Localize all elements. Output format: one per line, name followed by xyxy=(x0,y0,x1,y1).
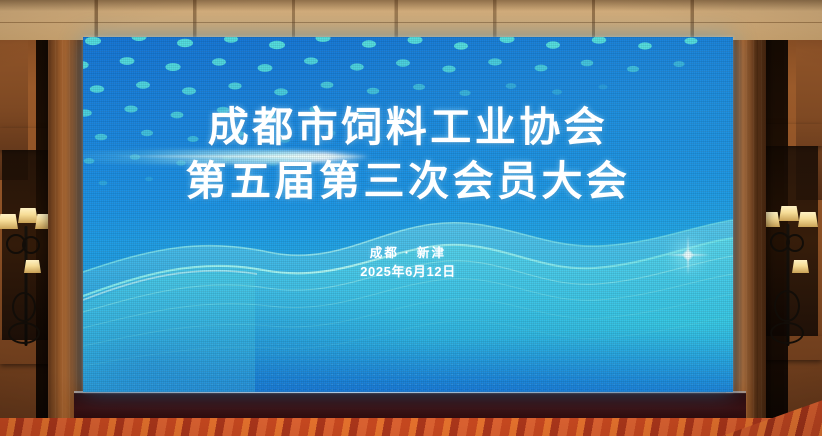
sconce-scrollwork xyxy=(22,236,40,254)
right-candelabra-sconce xyxy=(762,198,814,362)
sconce-scrollwork xyxy=(786,234,804,252)
sconce-scrollwork xyxy=(12,292,36,322)
upper-wall-shadow xyxy=(0,0,822,40)
sconce-lamp xyxy=(798,212,818,227)
screen-text-block: 成都市饲料工业协会 第五届第三次会员大会 成都 · 新津 2025年6月12日 xyxy=(83,37,733,392)
sconce-scrollwork xyxy=(774,290,800,322)
left-candelabra-sconce xyxy=(2,200,50,360)
sconce-lamp xyxy=(18,208,38,223)
left-wood-column xyxy=(48,0,86,436)
conference-date: 2025年6月12日 xyxy=(83,261,733,280)
conference-location: 成都 · 新津 xyxy=(83,242,733,261)
sconce-scrollwork xyxy=(8,322,40,344)
led-display-screen: 成都市饲料工业协会 第五届第三次会员大会 成都 · 新津 2025年6月12日 xyxy=(83,37,733,392)
right-inner-column xyxy=(732,0,758,436)
sconce-lamp xyxy=(24,260,41,273)
sconce-lamp xyxy=(0,214,18,229)
conference-title-line-2: 第五届第三次会员大会 xyxy=(83,159,733,205)
sconce-lamp xyxy=(779,206,799,221)
screenshot-root: 成都市饲料工业协会 第五届第三次会员大会 成都 · 新津 2025年6月12日 xyxy=(0,0,822,436)
carpet-foreground xyxy=(0,418,822,436)
conference-title-line-1: 成都市饲料工业协会 xyxy=(83,105,733,151)
sconce-lamp xyxy=(792,260,809,273)
sconce-scrollwork xyxy=(770,322,804,344)
